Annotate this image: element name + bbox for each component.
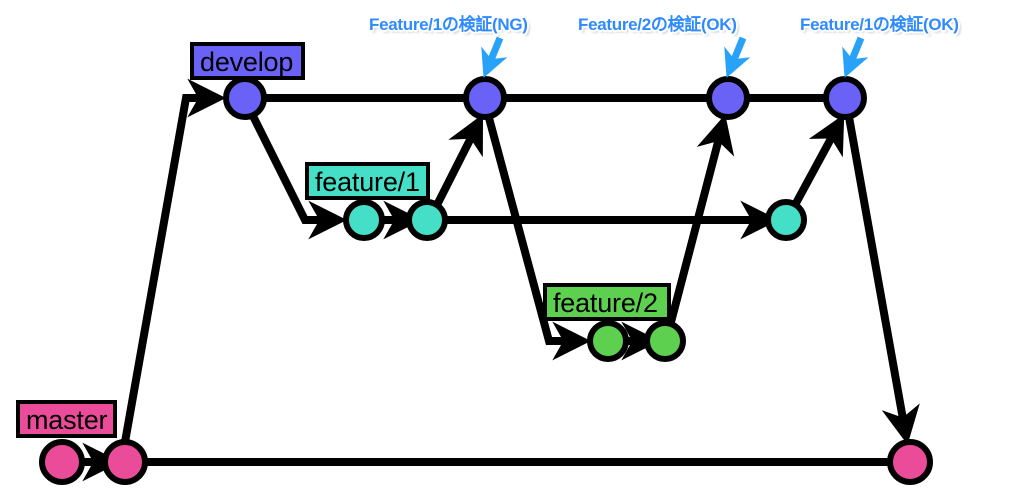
commit-node-f2b[interactable]: [647, 323, 683, 359]
commit-node-f1a[interactable]: [346, 202, 382, 238]
commit-node-d2[interactable]: [466, 79, 504, 117]
commit-node-m1[interactable]: [42, 442, 82, 482]
edge-m2-develop-branch: [125, 98, 217, 442]
commit-node-m2[interactable]: [105, 442, 145, 482]
branch-label-feature2[interactable]: feature/2: [543, 283, 671, 321]
commit-node-d4[interactable]: [826, 79, 864, 117]
edge-f1c-d4-merge: [795, 122, 840, 205]
edge-d4-m3-merge: [849, 117, 906, 436]
annotation-arrow-icon-1: [729, 38, 743, 72]
commit-node-f1c[interactable]: [768, 202, 804, 238]
git-graph-canvas: [0, 0, 1018, 488]
annotation-arrow-icon-2: [847, 38, 861, 72]
annotation-feature1-ng: Feature/1の検証(NG): [369, 10, 528, 35]
annotation-feature2-ok: Feature/2の検証(OK): [578, 10, 737, 35]
annotation-feature1-ok: Feature/1の検証(OK): [800, 10, 959, 35]
commit-node-d3[interactable]: [709, 79, 747, 117]
branch-label-develop[interactable]: develop: [190, 42, 305, 80]
branch-label-master[interactable]: master: [16, 400, 117, 438]
commit-node-m3[interactable]: [890, 442, 930, 482]
commit-node-f2a[interactable]: [590, 323, 626, 359]
annotation-arrow-icon-0: [486, 38, 500, 72]
edge-layer: [82, 98, 906, 462]
edge-f1b-d2-merge: [437, 122, 479, 205]
branch-label-feature1[interactable]: feature/1: [305, 162, 430, 200]
commit-node-d1[interactable]: [226, 79, 264, 117]
annotation-arrow-layer: [486, 38, 861, 72]
commit-node-f1b[interactable]: [409, 202, 445, 238]
git-branching-diagram: master develop feature/1 feature/2 Featu…: [0, 0, 1018, 488]
